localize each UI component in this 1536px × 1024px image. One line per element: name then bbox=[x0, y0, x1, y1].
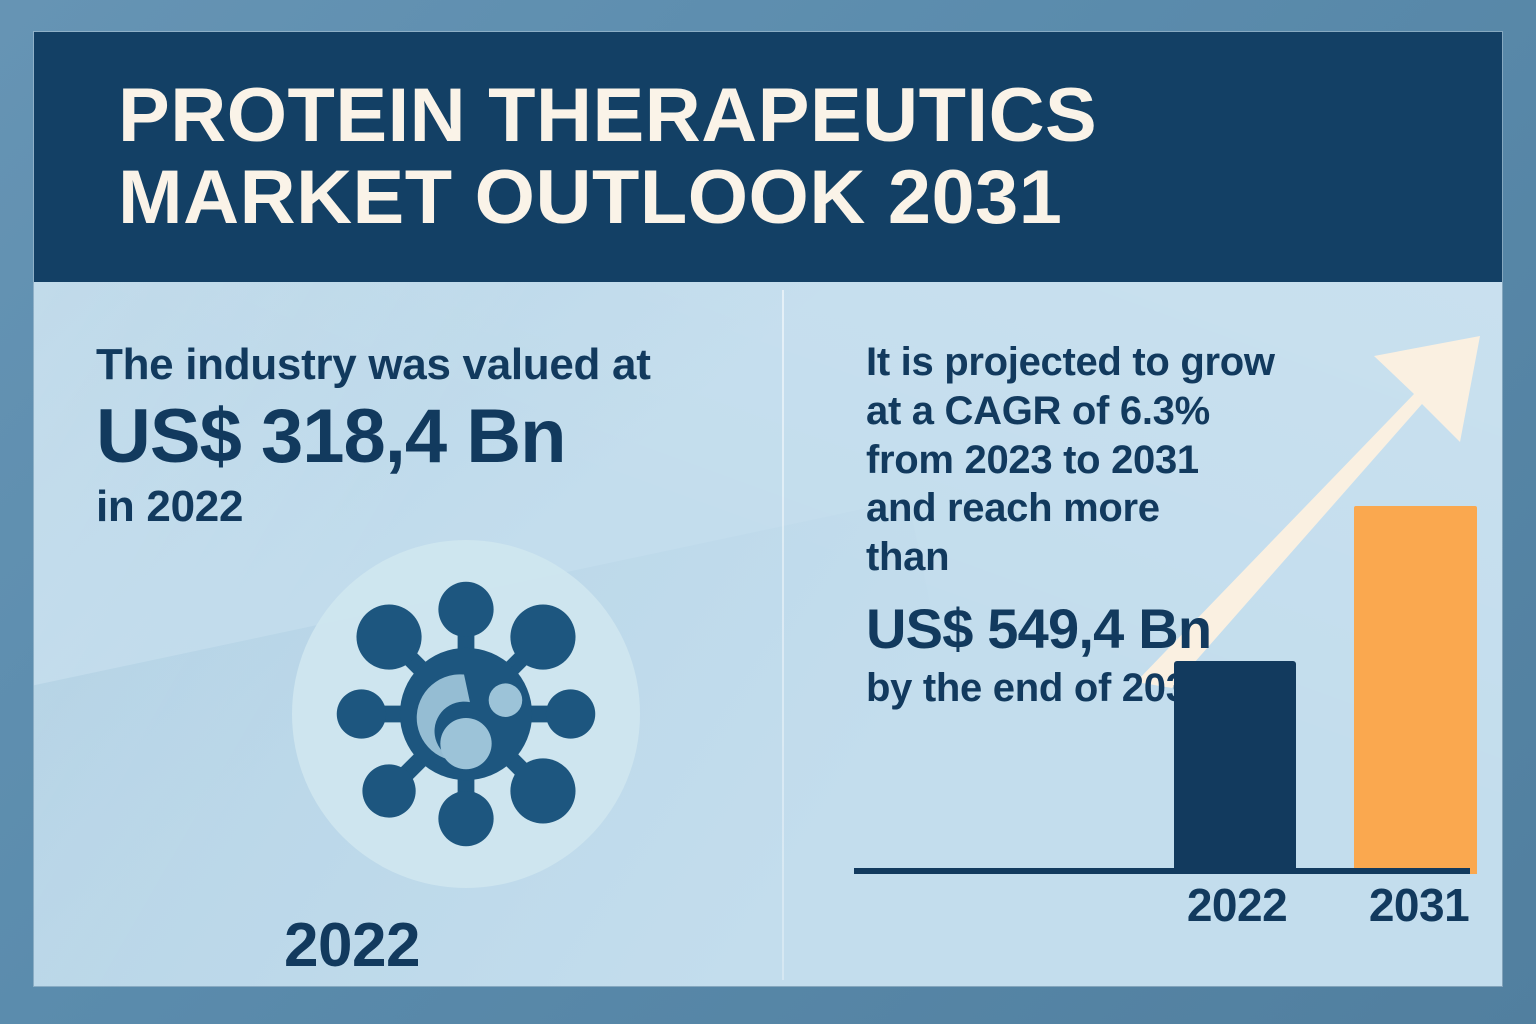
chart-xtick-2031: 2031 bbox=[1324, 878, 1502, 932]
bar-2022 bbox=[1174, 661, 1296, 874]
chart-plot-area bbox=[842, 472, 1470, 874]
left-tail-text: in 2022 bbox=[96, 483, 786, 531]
left-year-label: 2022 bbox=[284, 910, 420, 981]
left-panel: The industry was valued at US$ 318,4 Bn … bbox=[34, 282, 782, 986]
left-lead-text: The industry was valued at bbox=[96, 340, 786, 389]
page-title: PROTEIN THERAPEUTICS MARKET OUTLOOK 2031 bbox=[118, 75, 1097, 239]
bar-chart: 2022 2031 bbox=[842, 472, 1470, 932]
molecule-icon-glyph bbox=[318, 566, 614, 862]
right-line-1: It is projected to grow bbox=[866, 338, 1386, 387]
left-panel-text: The industry was valued at US$ 318,4 Bn … bbox=[96, 340, 786, 531]
chart-xtick-2022: 2022 bbox=[1142, 878, 1332, 932]
molecule-icon bbox=[292, 540, 640, 888]
left-value-2022: US$ 318,4 Bn bbox=[96, 395, 786, 479]
right-panel: It is projected to grow at a CAGR of 6.3… bbox=[782, 282, 1502, 986]
infographic-card: PROTEIN THERAPEUTICS MARKET OUTLOOK 2031… bbox=[34, 32, 1502, 986]
chart-axis-line bbox=[854, 868, 1470, 874]
bar-2031 bbox=[1354, 506, 1477, 874]
right-line-2: at a CAGR of 6.3% bbox=[866, 387, 1386, 436]
header-band: PROTEIN THERAPEUTICS MARKET OUTLOOK 2031 bbox=[34, 32, 1502, 282]
